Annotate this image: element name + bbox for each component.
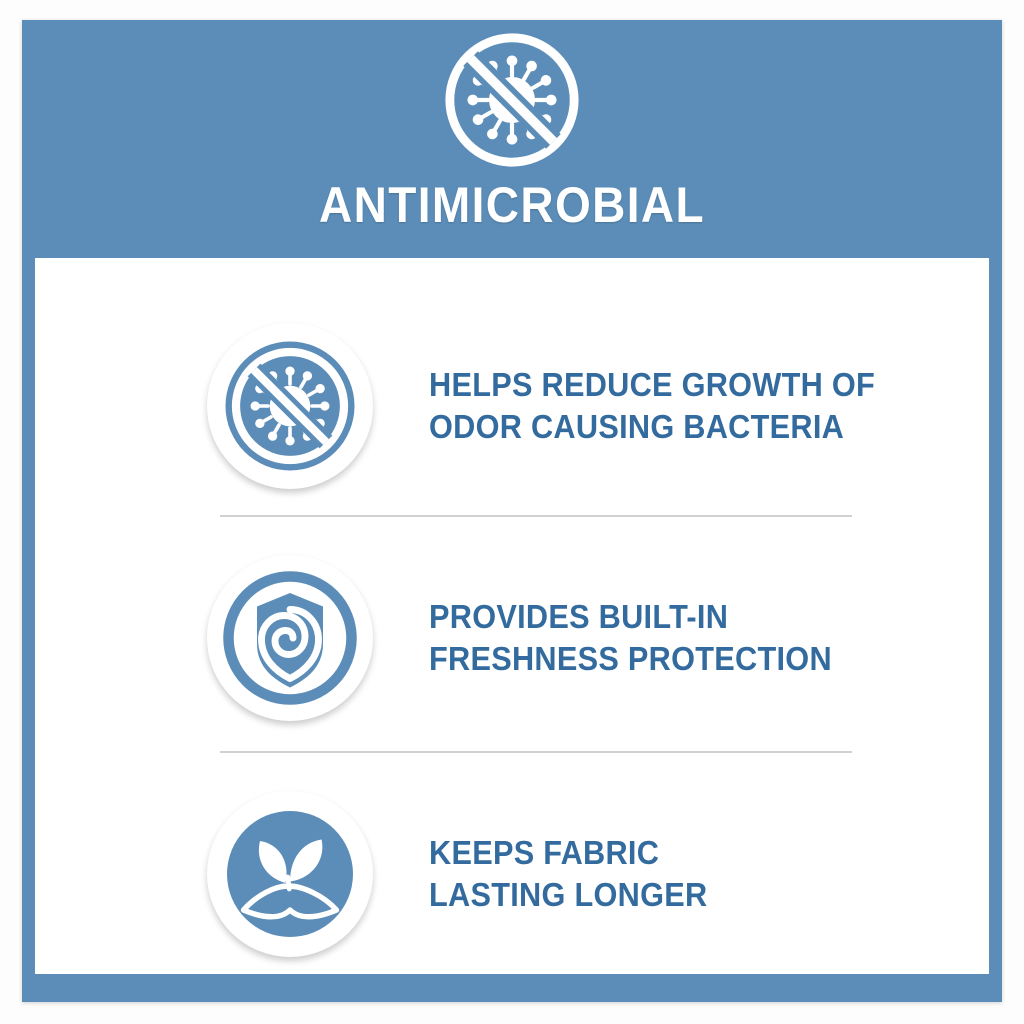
blue-panel: ANTIMICROBIAL: [22, 20, 1002, 1002]
header: ANTIMICROBIAL: [22, 20, 1002, 258]
feature-row: KEEPS FABRIC LASTING LONGER: [35, 766, 989, 981]
antimicrobial-infographic: ANTIMICROBIAL: [0, 0, 1024, 1024]
feature-label: HELPS REDUCE GROWTH OF ODOR CAUSING BACT…: [429, 364, 875, 447]
divider: [220, 515, 852, 517]
feature-row: PROVIDES BUILT-IN FRESHNESS PROTECTION: [35, 530, 989, 745]
feature-row: HELPS REDUCE GROWTH OF ODOR CAUSING BACT…: [35, 298, 989, 513]
sprout-leaf-icon: [207, 791, 373, 957]
feature-label: KEEPS FABRIC LASTING LONGER: [429, 832, 707, 915]
page-title: ANTIMICROBIAL: [61, 180, 963, 230]
divider: [220, 751, 852, 753]
no-germs-icon: [207, 323, 373, 489]
shield-swirl-icon: [207, 555, 373, 721]
no-germs-icon: [438, 26, 586, 174]
feature-label: PROVIDES BUILT-IN FRESHNESS PROTECTION: [429, 596, 832, 679]
feature-list: HELPS REDUCE GROWTH OF ODOR CAUSING BACT…: [35, 258, 989, 974]
content-card: HELPS REDUCE GROWTH OF ODOR CAUSING BACT…: [35, 258, 989, 974]
